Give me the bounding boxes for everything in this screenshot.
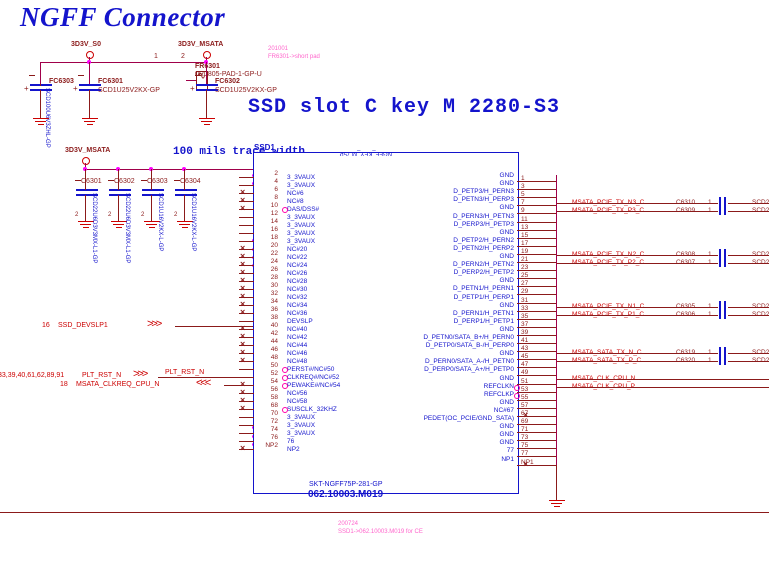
pin-name-left: NC#30 [287, 286, 307, 293]
pin-number-left: NP2 [262, 442, 278, 449]
cap-refdes-fc6303: FC6303 [49, 78, 74, 85]
pin-name-left: NC#56 [287, 390, 307, 397]
pin-number-left: 50 [262, 362, 278, 369]
cap-refdes-c6302: C6302 [114, 178, 135, 185]
pin-name-left: NC#42 [287, 334, 307, 341]
offpage-name-ssd-devslp1: SSD_DEVSLP1 [58, 322, 108, 329]
cap-refdes-c6303: C6303 [147, 178, 168, 185]
pin-name-right: GND [500, 253, 514, 260]
pin-number-left: 46 [262, 346, 278, 353]
annotation-bottom-text: SSD1->062.10003.M019 for CE [338, 529, 423, 535]
pin-name-right: D_PERN2/H_PETN2 [453, 261, 514, 268]
pin-name-left: NC#24 [287, 262, 307, 269]
cap-value-fc6301: SCD1U25V2KX-GP [98, 87, 160, 94]
pin-name-right: 77 [507, 447, 514, 454]
pin-number-left: 26 [262, 266, 278, 273]
power-rail-label-msata: 3D3V_MSATA [178, 41, 223, 48]
pin-number-left: 20 [262, 242, 278, 249]
pin-name-right: D_PETN1/H_PERN1 [453, 285, 514, 292]
pin-name-right: GND [500, 180, 514, 187]
pin-number-left: 24 [262, 258, 278, 265]
pin-name-left: NC#48 [287, 358, 307, 365]
ferrite-pin1: 1 [154, 53, 158, 60]
pin-name-right: GND [500, 439, 514, 446]
cap-pin-c6302: 2 [108, 212, 111, 218]
pin-name-left: NC#32 [287, 294, 307, 301]
pin-marker-circle [282, 407, 288, 413]
pin-name-right: D_PETN3/H_PERP3 [453, 196, 514, 203]
pin-name-left: NC#22 [287, 254, 307, 261]
no-connect-marker [240, 357, 247, 364]
pin-number-left: 10 [262, 202, 278, 209]
offpage-sheet-msata-clkreq: 18 [60, 381, 68, 388]
pin-name-left: 3_3VAUX [287, 414, 315, 421]
cap-refdes-fc6301: FC6301 [98, 78, 123, 85]
pin-number-left: 14 [262, 218, 278, 225]
pin-number-left: 30 [262, 282, 278, 289]
pin-name-left: NC#34 [287, 302, 307, 309]
pin-number-left: 48 [262, 354, 278, 361]
page-title: NGFF Connector [20, 2, 225, 33]
pin-number-left: 6 [262, 186, 278, 193]
pin-number-left: 52 [262, 370, 278, 377]
pin-name-right: NP1 [501, 456, 514, 463]
pin-number-left: 8 [262, 194, 278, 201]
pin-name-right: GND [500, 431, 514, 438]
net-label-plt-rst-n: PLT_RST_N [165, 369, 204, 376]
pin-number-left: 18 [262, 234, 278, 241]
offpage-sheet-ssd-devslp1: 16 [42, 322, 50, 329]
pin-name-right: D_PERN1/H_PETN1 [453, 310, 514, 317]
pin-name-left: 3_3VAUX [287, 214, 315, 221]
offpage-name-msata-clkreq: MSATA_CLKREQ_CPU_N [76, 381, 159, 388]
pin-number-left: 28 [262, 274, 278, 281]
pin-name-right: GND [500, 204, 514, 211]
pin-name-left: NC#40 [287, 326, 307, 333]
no-connect-marker [240, 205, 247, 212]
pin-name-right: D_PERP2/H_PETP2 [454, 269, 514, 276]
pin-name-left: NC#46 [287, 350, 307, 357]
pin-number-left: 32 [262, 290, 278, 297]
power-port-msata-lower [82, 157, 90, 165]
cap-value-c6301: SCD22U6D3V3MX-L1-GP [91, 193, 97, 263]
cap-value-fc6303: SCD100U6V3ZHL-GP [44, 88, 50, 148]
pin-name-left: 3_3VAUX [287, 422, 315, 429]
pin-name-right: D_PETN0/SATA_B+/H_PERN0 [423, 334, 514, 341]
pin-marker-circle [514, 393, 520, 399]
cap-value-fc6302: SCD1U25V2KX-GP [215, 87, 277, 94]
pin-name-right: GND [500, 229, 514, 236]
pin-marker-circle [514, 385, 520, 391]
cap-pin-c6301: 2 [75, 212, 78, 218]
pin-name-left: PEWAKE#/NC#54 [287, 382, 340, 389]
pin-number-left: 38 [262, 314, 278, 321]
pin-name-left: 3_3VAUX [287, 222, 315, 229]
pin-name-left: NC#36 [287, 310, 307, 317]
pin-name-right: D_PETP0/SATA_B-/H_PERP0 [426, 342, 514, 349]
pin-number-left: 36 [262, 306, 278, 313]
pin-name-left: 76 [287, 438, 294, 445]
pin-name-right: GND [500, 172, 514, 179]
connector-type-label: NGFF_KEY_M 75P [340, 150, 392, 156]
connector-part-number: 062.10003.M019 [308, 489, 383, 500]
pin-number-left: 76 [262, 434, 278, 441]
cap-refdes-c6304: C6304 [180, 178, 201, 185]
pin-name-right: D_PERP3/H_PETP3 [454, 221, 514, 228]
pin-name-left: SUSCLK_32KHZ [287, 406, 337, 413]
pin-name-left: NC#28 [287, 278, 307, 285]
pin-name-left: NC#26 [287, 270, 307, 277]
pin-number-left: 72 [262, 418, 278, 425]
pin-name-right: D_PETP1/H_PERP1 [454, 294, 514, 301]
pin-name-right: GND [500, 423, 514, 430]
ferrite-refdes: FR6301 [195, 63, 220, 70]
pin-name-left: NC#20 [287, 246, 307, 253]
power-rail-label-msata-lower: 3D3V_MSATA [65, 147, 110, 154]
pin-name-right: D_PERN3/H_PETN3 [453, 213, 514, 220]
ferrite-pin2: 2 [181, 53, 185, 60]
pin-name-left: 3_3VAUX [287, 238, 315, 245]
pin-name-right: GND [500, 350, 514, 357]
pin-marker-circle [282, 375, 288, 381]
pin-name-right: D_PERP0/SATA_A+/H_PETP0 [424, 366, 514, 373]
pin-number-left: 40 [262, 322, 278, 329]
pin-name-right: GND [500, 277, 514, 284]
pin-number-left: 54 [262, 378, 278, 385]
pin-marker-circle [282, 367, 288, 373]
cap-value-c6302: SCD22U6D3V3MX-L1-GP [124, 193, 130, 263]
sheet-subtitle: SSD slot C key M 2280-S3 [248, 96, 560, 119]
pin-number-left: 42 [262, 330, 278, 337]
offpage-name-plt-rst-n: PLT_RST_N [82, 372, 121, 379]
no-connect-marker [240, 405, 247, 412]
pin-name-right: D_PERN0/SATA_A-/H_PETN0 [425, 358, 514, 365]
annotation-bottom-date: 200724 [338, 521, 358, 527]
pin-name-left: 3_3VAUX [287, 182, 315, 189]
pin-number-left: 56 [262, 386, 278, 393]
pin-number-left: 74 [262, 426, 278, 433]
pin-name-left: NC#58 [287, 398, 307, 405]
pin-name-left: NC#44 [287, 342, 307, 349]
power-port-s0 [86, 51, 94, 59]
pin-name-left: 3_3VAUX [287, 174, 315, 181]
annotation-top-text: FR6301->short pad [268, 54, 320, 60]
pin-name-right: D_PETP3/H_PERN3 [453, 188, 514, 195]
pin-number-left: 44 [262, 338, 278, 345]
cap-value-c6304: SCD1U16V2KX-L-GP [190, 193, 196, 251]
pin-number-left: 12 [262, 210, 278, 217]
pin-name-left: PERST#/NC#50 [287, 366, 334, 373]
cap-value-c6303: SCD1U16V2KX-L-GP [157, 193, 163, 251]
pin-name-left: 3_3VAUX [287, 230, 315, 237]
pin-name-right: NC#67 [494, 407, 514, 414]
pin-number-left: 70 [262, 410, 278, 417]
cap-refdes-c6301: C6301 [81, 178, 102, 185]
pin-number-left: 2 [262, 170, 278, 177]
pin-name-left: NC#8 [287, 198, 304, 205]
pin-name-right: GND [500, 302, 514, 309]
pin-name-left: DEVSLP [287, 318, 313, 325]
connector-refdes: SSD1 [254, 143, 275, 152]
pin-marker-circle [282, 383, 288, 389]
no-connect-marker [240, 445, 247, 452]
cap-refdes-fc6302: FC6302 [215, 78, 240, 85]
pin-name-left: DAS/DSS# [287, 206, 319, 213]
cap-polarity-plus: + [73, 84, 78, 93]
pin-name-right: GND [500, 399, 514, 406]
pin-name-right: REFCLKP [484, 391, 514, 398]
pin-name-left: NC#6 [287, 190, 304, 197]
pin-name-right: PEDET(OC_PCIE/GND_SATA) [424, 415, 514, 422]
pin-name-left: CLKREQ#/NC#52 [287, 374, 339, 381]
power-port-msata [203, 51, 211, 59]
pin-number-left: 68 [262, 402, 278, 409]
cap-pin-c6304: 2 [174, 212, 177, 218]
pin-name-right: D_PETN2/H_PERP2 [453, 245, 514, 252]
annotation-top-date: 201001 [268, 46, 288, 52]
offpage-arrow-msata-clkreq[interactable]: <<< [196, 377, 209, 389]
pin-name-right: GND [500, 375, 514, 382]
pin-marker-circle [282, 207, 288, 213]
pin-number-left: 16 [262, 226, 278, 233]
cap-polarity-plus: + [24, 84, 29, 93]
pin-name-left: NP2 [287, 446, 300, 453]
cap-pin-c6303: 2 [141, 212, 144, 218]
pin-number-left: 58 [262, 394, 278, 401]
cap-polarity-plus: + [190, 84, 195, 93]
connector-part-desc: SKT-NGFF75P-281-GP [309, 481, 383, 488]
no-connect-marker [240, 309, 247, 316]
offpage-arrow-ssd-devslp1[interactable]: >>> [147, 318, 160, 330]
offpage-sheet-plt-rst-n: 33,39,40,61,62,89,91 [0, 372, 64, 379]
pin-name-left: 3_3VAUX [287, 430, 315, 437]
offpage-arrow-plt-rst-n[interactable]: >>> [133, 368, 146, 380]
pin-name-right: REFCLKN [484, 383, 514, 390]
no-connect-marker [523, 461, 530, 468]
pin-number-left: 4 [262, 178, 278, 185]
pin-number-left: 34 [262, 298, 278, 305]
pin-number-left: 22 [262, 250, 278, 257]
power-rail-label-s0: 3D3V_S0 [71, 41, 101, 48]
pin-name-right: GND [500, 326, 514, 333]
pin-name-right: D_PERP1/H_PETP1 [454, 318, 514, 325]
pin-name-right: D_PETP2/H_PERN2 [453, 237, 514, 244]
